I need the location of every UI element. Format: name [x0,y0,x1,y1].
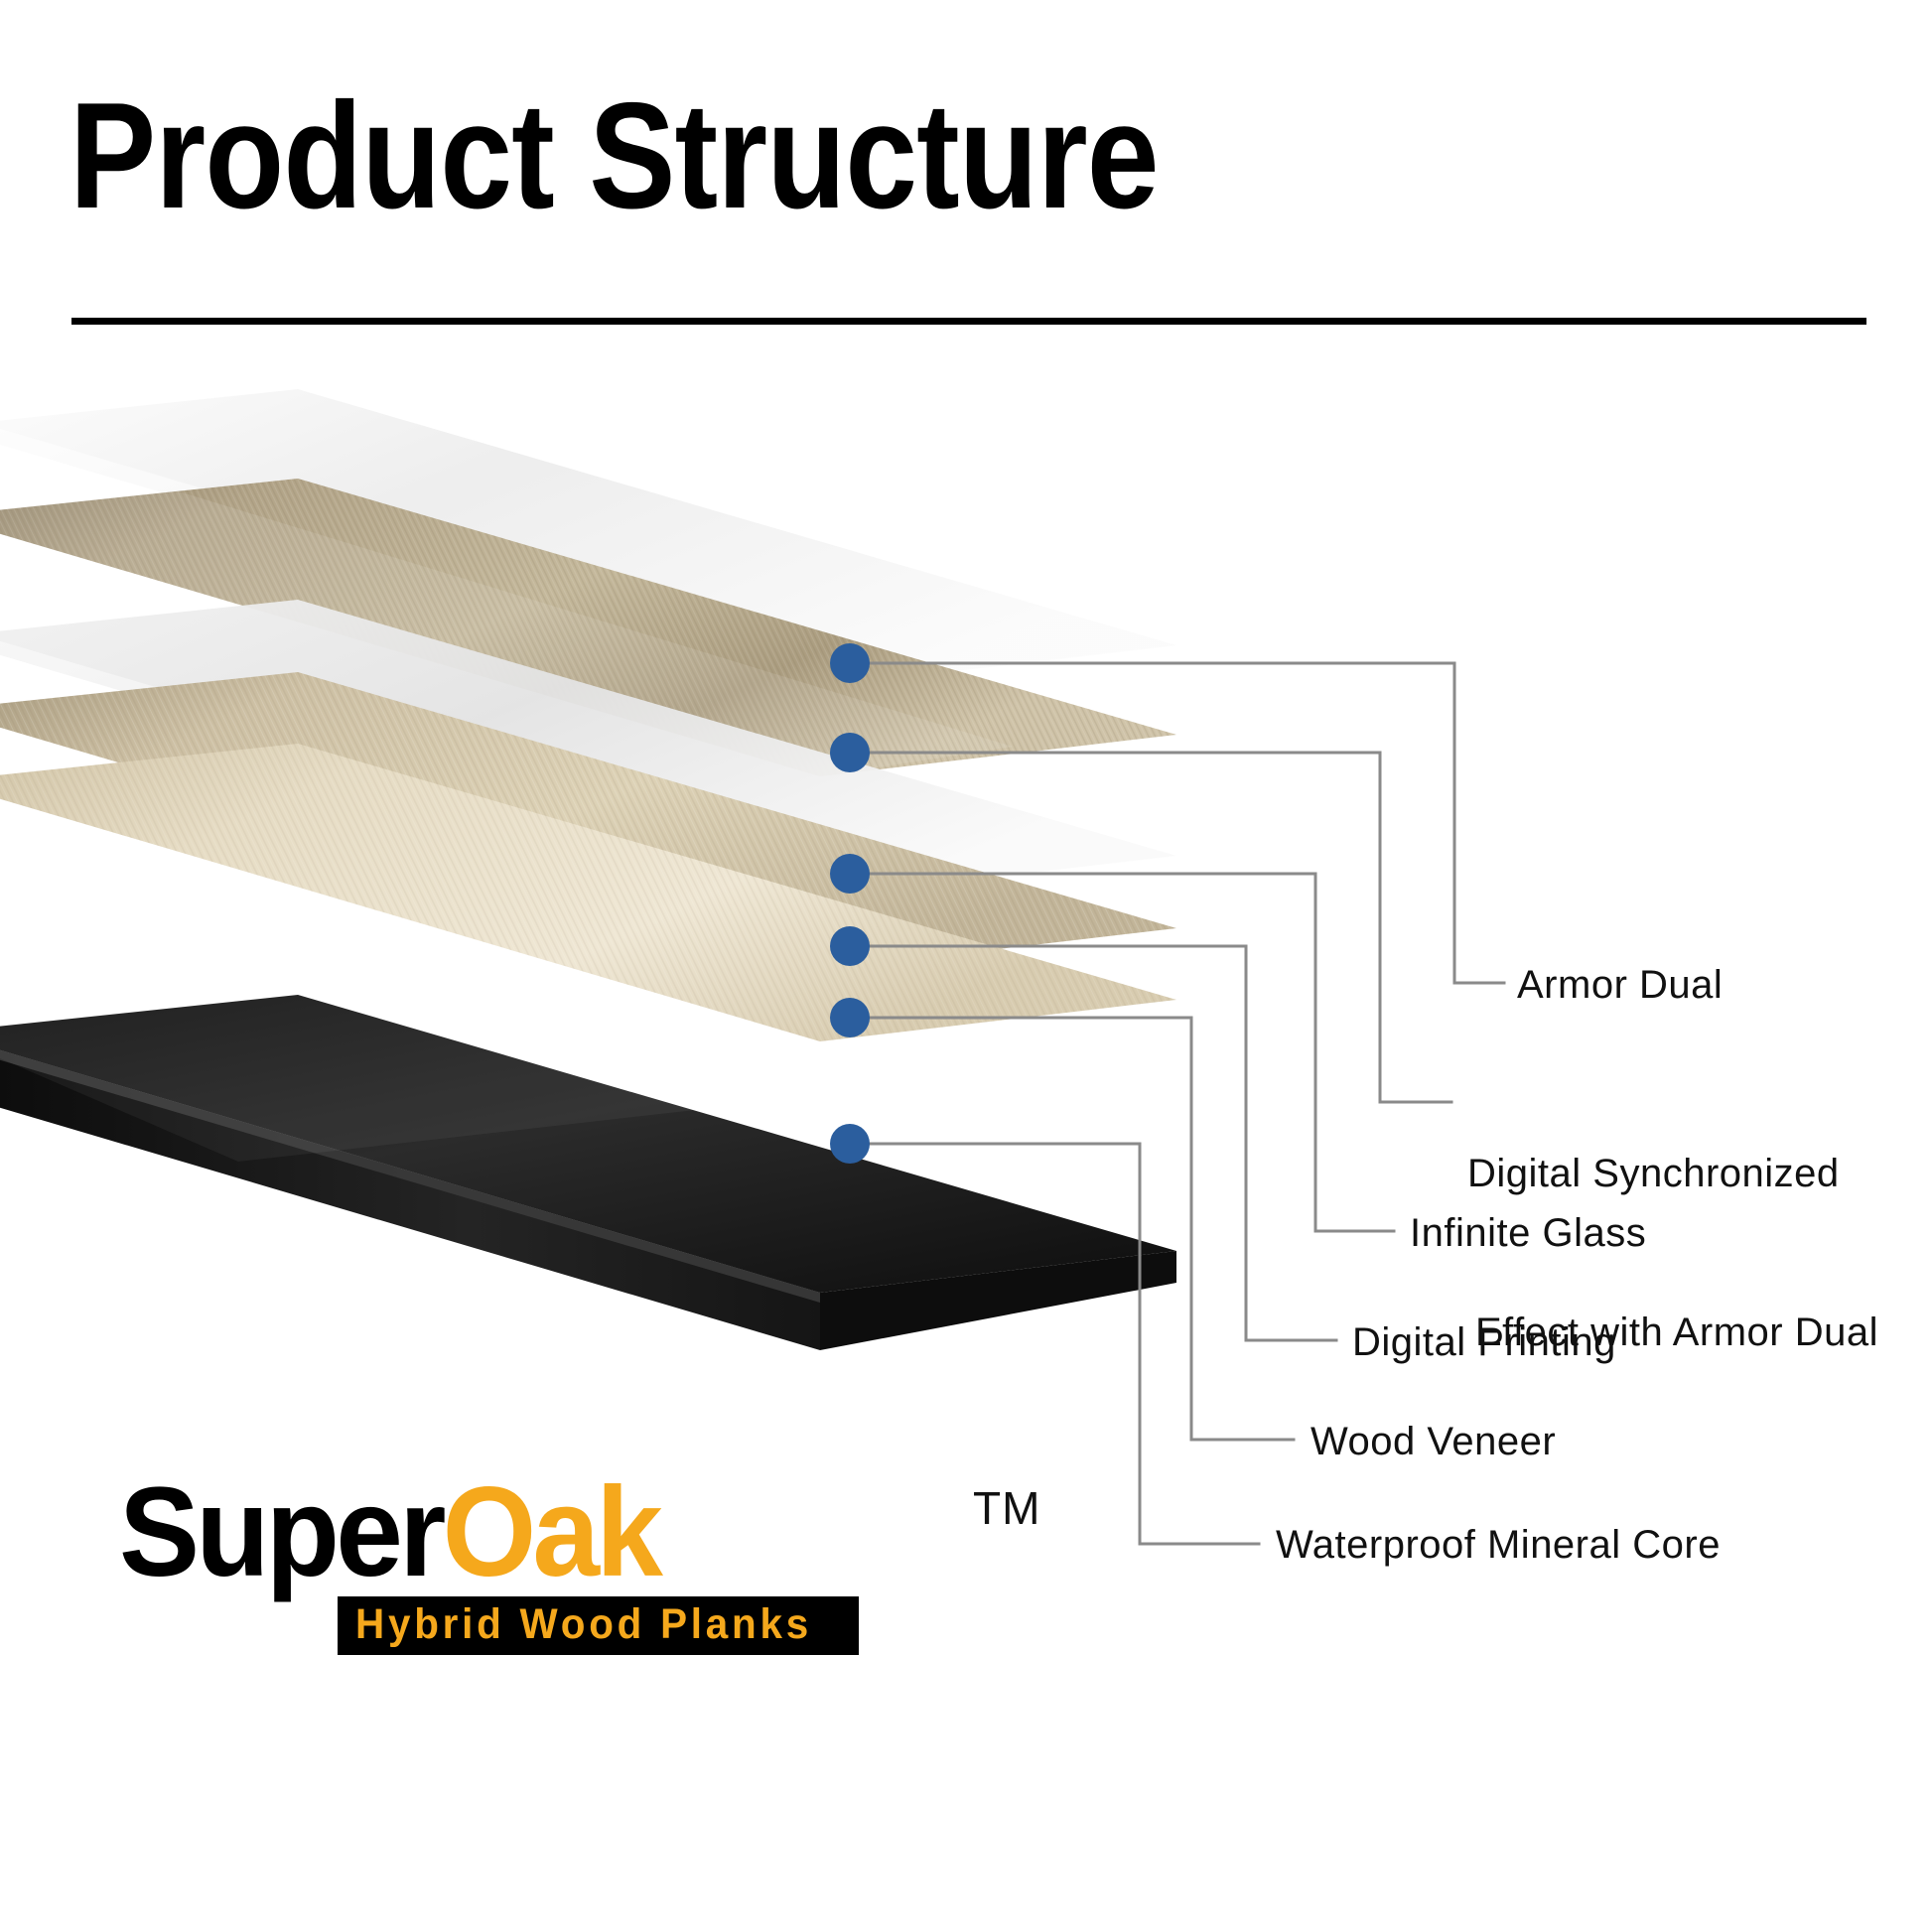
trademark-symbol: TM [973,1481,1040,1535]
callout-label-digital-printing: Digital Printing [1352,1316,1616,1369]
logo-word-oak: Oak [443,1461,659,1603]
logo-tagline-bar: Hybrid Wood Planks [338,1596,859,1655]
callout-dot-infinite-glass[interactable] [830,854,870,894]
layer-mineral-core [0,995,1176,1350]
callout-dot-armor-dual[interactable] [830,643,870,683]
diagram-canvas: Product Structure [0,0,1932,1932]
callout-label-mineral-core: Waterproof Mineral Core [1276,1519,1721,1572]
logo-tagline: Hybrid Wood Planks [355,1603,812,1646]
callout-dot-mineral-core[interactable] [830,1124,870,1164]
brand-logo: SuperOak TM Hybrid Wood Planks [119,1469,1072,1688]
callout-label-infinite-glass: Infinite Glass [1410,1207,1646,1260]
callout-label-digital-sync-line1: Digital Synchronized [1467,1148,1878,1200]
logo-word-super: Super [119,1461,443,1603]
callout-dot-digital-printing[interactable] [830,926,870,966]
callout-dot-digital-sync[interactable] [830,733,870,772]
callout-label-wood-veneer: Wood Veneer [1311,1416,1556,1468]
logo-wordmark: SuperOak [119,1469,659,1596]
callout-label-armor-dual: Armor Dual [1517,959,1723,1012]
callout-dot-wood-veneer[interactable] [830,998,870,1037]
